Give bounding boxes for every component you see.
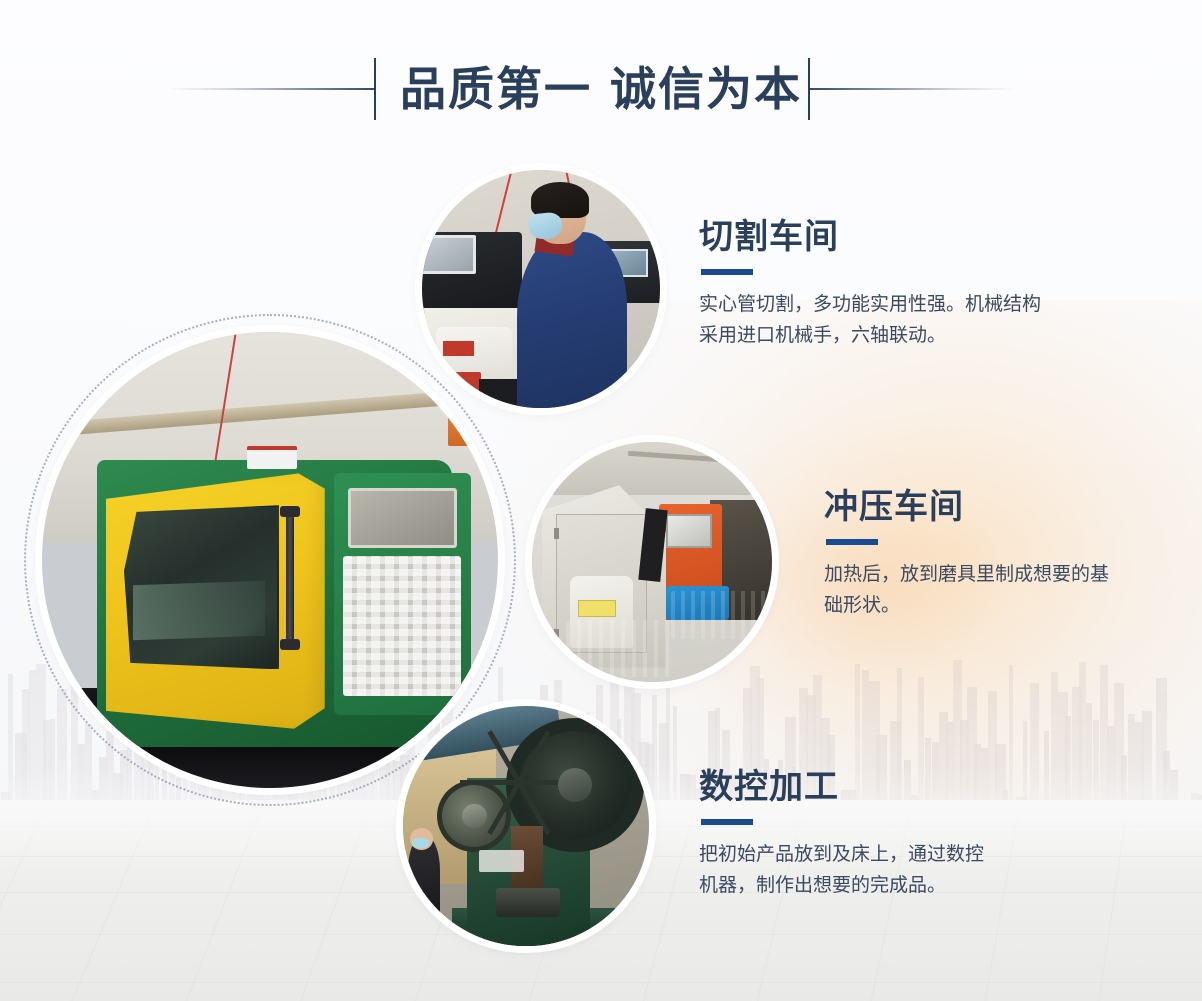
section-title-cutting: 切割车间 [699,218,1041,257]
section-desc-line: 实心管切割，多功能实用性强。机械结构 [699,289,1041,320]
section-desc-line: 把初始产品放到及床上，通过数控 [699,839,984,870]
section-desc-line: 采用进口机械手，六轴联动。 [699,320,1041,351]
section-desc-line: 机器，制作出想要的完成品。 [699,870,984,901]
section-accent-bar-cnc-machining [701,819,753,825]
section-photo-stamping [532,442,772,682]
section-text-cutting: 切割车间 实心管切割，多功能实用性强。机械结构 采用进口机械手，六轴联动。 [699,218,1041,351]
section-desc-cutting: 实心管切割，多功能实用性强。机械结构 采用进口机械手，六轴联动。 [699,289,1041,351]
section-title-cnc-machining: 数控加工 [699,768,984,807]
section-photo-cutting [422,170,660,408]
section-accent-bar-cutting [701,269,753,275]
page-header: 品质第一 诚信为本 [0,42,1202,136]
section-desc-cnc-machining: 把初始产品放到及床上，通过数控 机器，制作出想要的完成品。 [699,839,984,901]
section-photo-cnc-machining [403,706,649,946]
section-desc-stamping: 加热后，放到磨具里制成想要的基 础形状。 [824,559,1109,621]
section-desc-line: 础形状。 [824,590,1109,621]
section-title-stamping: 冲压车间 [824,488,1109,527]
header-rule-right [808,88,1018,90]
section-text-stamping: 冲压车间 加热后，放到磨具里制成想要的基 础形状。 [824,488,1109,621]
section-accent-bar-stamping [826,539,878,545]
section-desc-line: 加热后，放到磨具里制成想要的基 [824,559,1109,590]
page-title: 品质第一 诚信为本 [0,42,1202,136]
section-text-cnc-machining: 数控加工 把初始产品放到及床上，通过数控 机器，制作出想要的完成品。 [699,768,984,901]
workshop-process-infographic: 品质第一 诚信为本 [0,0,1202,1001]
